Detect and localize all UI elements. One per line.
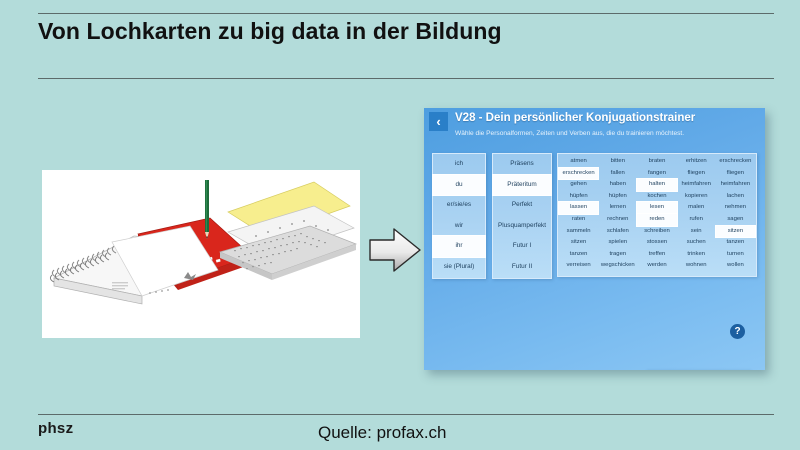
app-header: ‹ V28 - Dein persönlicher Konjugationstr…: [424, 108, 765, 144]
slide: Von Lochkarten zu big data in der Bildun…: [0, 0, 800, 450]
verb-option-25[interactable]: raten: [559, 214, 598, 226]
punch-card-stack: [220, 182, 356, 280]
verb-option-46[interactable]: wegschicken: [598, 260, 637, 272]
verb-option-0[interactable]: atmen: [559, 156, 598, 168]
app-subtitle: Wähle die Personalformen, Zeiten und Ver…: [455, 130, 684, 137]
app-title: V28 - Dein persönlicher Konjugationstrai…: [455, 112, 695, 124]
verb-option-31[interactable]: schlafen: [598, 226, 637, 238]
verb-option-22[interactable]: lesen: [637, 202, 676, 214]
pencil: [205, 180, 209, 239]
verb-option-29[interactable]: sagen: [716, 214, 755, 226]
verb-option-43[interactable]: trinken: [677, 249, 716, 261]
top-divider: [38, 13, 774, 14]
verb-option-38[interactable]: suchen: [677, 237, 716, 249]
person-option-3[interactable]: wir: [433, 216, 485, 237]
verb-option-47[interactable]: werden: [637, 260, 676, 272]
person-option-1[interactable]: du: [433, 175, 485, 196]
tense-option-0[interactable]: Präsens: [493, 154, 551, 175]
verb-option-7[interactable]: fangen: [637, 168, 676, 180]
footer-divider: [38, 414, 774, 415]
person-form-panel: ichduer/sie/eswirihrsie (Plural): [432, 153, 486, 279]
verb-option-48[interactable]: wohnen: [677, 260, 716, 272]
verb-option-44[interactable]: turnen: [716, 249, 755, 261]
verb-option-24[interactable]: nehmen: [716, 202, 755, 214]
verb-option-8[interactable]: fliegen: [677, 168, 716, 180]
phsz-logo: phsz: [38, 420, 73, 437]
verb-option-16[interactable]: hüpfen: [598, 191, 637, 203]
verb-option-6[interactable]: fallen: [598, 168, 637, 180]
verb-option-2[interactable]: braten: [637, 156, 676, 168]
verb-option-4[interactable]: erschrecken: [716, 156, 755, 168]
verb-option-26[interactable]: rechnen: [598, 214, 637, 226]
verb-option-9[interactable]: fliegen: [716, 168, 755, 180]
verb-option-21[interactable]: lernen: [598, 202, 637, 214]
verb-option-27[interactable]: reden: [637, 214, 676, 226]
person-option-5[interactable]: sie (Plural): [433, 257, 485, 278]
tense-option-5[interactable]: Futur II: [493, 257, 551, 278]
right-arrow-icon: [366, 222, 424, 278]
tense-option-3[interactable]: Plusquamperfekt: [493, 216, 551, 237]
title-divider: [38, 78, 774, 79]
verb-option-30[interactable]: sammeln: [559, 226, 598, 238]
source-caption: Quelle: profax.ch: [318, 423, 447, 443]
verb-option-15[interactable]: hüpfen: [559, 191, 598, 203]
verb-option-5[interactable]: erschrecken: [559, 168, 598, 180]
verb-option-20[interactable]: lassen: [559, 202, 598, 214]
verb-option-23[interactable]: malen: [677, 202, 716, 214]
verb-panel: atmenbittenbratenerhitzenerschreckenersc…: [557, 153, 757, 277]
person-option-2[interactable]: er/sie/es: [433, 195, 485, 216]
verb-option-14[interactable]: heimfahren: [716, 179, 755, 191]
verb-option-33[interactable]: sein: [677, 226, 716, 238]
konjugationstrainer-app-window: ‹ V28 - Dein persönlicher Konjugationstr…: [424, 108, 765, 370]
verb-option-3[interactable]: erhitzen: [677, 156, 716, 168]
punch-card-illustration: [42, 170, 360, 338]
verb-option-40[interactable]: tanzen: [559, 249, 598, 261]
verb-grid: atmenbittenbratenerhitzenerschreckenersc…: [558, 154, 756, 272]
page-title: Von Lochkarten zu big data in der Bildun…: [38, 18, 502, 45]
tense-option-2[interactable]: Perfekt: [493, 195, 551, 216]
tense-panel: PräsensPräteritumPerfektPlusquamperfektF…: [492, 153, 552, 279]
verb-option-12[interactable]: halten: [637, 179, 676, 191]
verb-option-35[interactable]: sitzen: [559, 237, 598, 249]
verb-option-13[interactable]: heimfahren: [677, 179, 716, 191]
verb-option-18[interactable]: kopieren: [677, 191, 716, 203]
verb-option-49[interactable]: wollen: [716, 260, 755, 272]
help-icon[interactable]: ?: [730, 324, 745, 339]
verb-option-32[interactable]: schreiben: [637, 226, 676, 238]
tense-option-4[interactable]: Futur I: [493, 236, 551, 257]
verb-option-39[interactable]: tanzen: [716, 237, 755, 249]
verb-option-36[interactable]: spielen: [598, 237, 637, 249]
verb-option-11[interactable]: haben: [598, 179, 637, 191]
verb-option-19[interactable]: lachen: [716, 191, 755, 203]
person-option-0[interactable]: ich: [433, 154, 485, 175]
verb-option-17[interactable]: kochen: [637, 191, 676, 203]
verb-option-42[interactable]: treffen: [637, 249, 676, 261]
person-option-4[interactable]: ihr: [433, 236, 485, 257]
verb-option-10[interactable]: gehen: [559, 179, 598, 191]
verb-option-41[interactable]: tragen: [598, 249, 637, 261]
verb-option-34[interactable]: sitzen: [716, 226, 755, 238]
verb-option-1[interactable]: bitten: [598, 156, 637, 168]
verb-option-37[interactable]: stossen: [637, 237, 676, 249]
verb-option-28[interactable]: rufen: [677, 214, 716, 226]
verb-option-45[interactable]: verreisen: [559, 260, 598, 272]
tense-option-1[interactable]: Präteritum: [493, 175, 551, 196]
punch-card-illustration-svg: [42, 170, 360, 338]
back-button[interactable]: ‹: [429, 112, 448, 131]
